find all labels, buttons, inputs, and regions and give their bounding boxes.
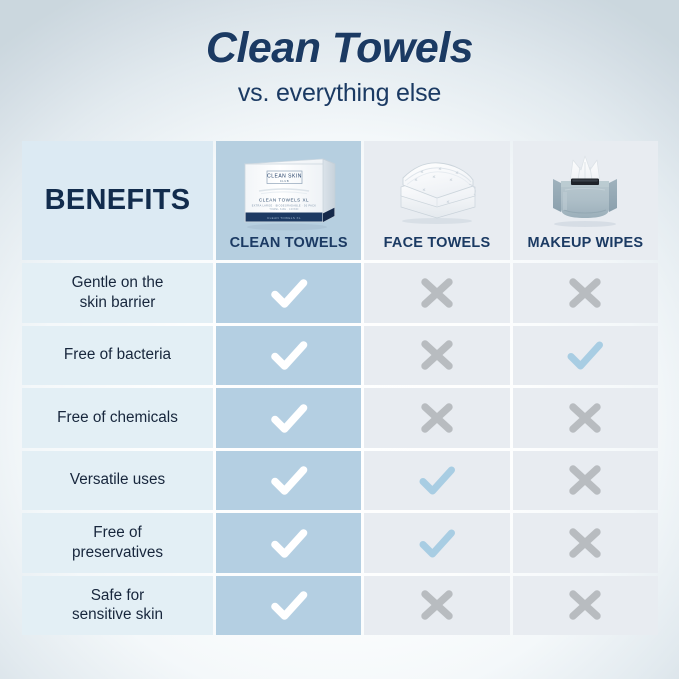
- benefit-label: Versatile uses: [62, 470, 173, 490]
- table-row: Gentle on theskin barrier: [22, 263, 658, 323]
- mark-cell-clean-towels: [216, 513, 361, 573]
- mark-cell-clean-towels: [216, 388, 361, 448]
- column-label-clean-towels: CLEAN TOWELS: [230, 235, 348, 260]
- cross-grey-icon: [563, 458, 607, 502]
- cross-grey-icon: [563, 396, 607, 440]
- product-image-face-towels: [364, 141, 509, 235]
- check-white-icon: [267, 458, 311, 502]
- check-white-icon: [267, 396, 311, 440]
- check-white-icon: [267, 271, 311, 315]
- page-subtitle: vs. everything else: [0, 78, 679, 108]
- table-row: Versatile uses: [22, 451, 658, 511]
- mark-cell-makeup-wipes: [513, 263, 658, 323]
- svg-text:CLUB: CLUB: [279, 179, 288, 183]
- mark-cell-face-towels: [364, 326, 509, 386]
- mark-cell-makeup-wipes: [513, 513, 658, 573]
- cross-grey-icon: [415, 333, 459, 377]
- comparison-table: BENEFITS: [22, 141, 658, 635]
- benefits-header-label: BENEFITS: [45, 184, 191, 217]
- mark-cell-face-towels: [364, 451, 509, 511]
- svg-text:CLEAN TOWELS XL: CLEAN TOWELS XL: [259, 197, 309, 202]
- cross-grey-icon: [415, 271, 459, 315]
- mark-cell-makeup-wipes: [513, 326, 658, 386]
- benefit-cell: Free of bacteria: [22, 326, 213, 386]
- check-blue-icon: [415, 458, 459, 502]
- benefit-cell: Gentle on theskin barrier: [22, 263, 213, 323]
- wipes-pouch-icon: [537, 148, 633, 232]
- benefit-cell: Safe forsensitive skin: [22, 576, 213, 636]
- benefit-cell: Free ofpreservatives: [22, 513, 213, 573]
- mark-cell-clean-towels: [216, 263, 361, 323]
- table-row: Free of bacteria: [22, 326, 658, 386]
- column-header-face-towels[interactable]: FACE TOWELS: [364, 141, 509, 260]
- svg-text:TOWEL SIZE · 10X8IN: TOWEL SIZE · 10X8IN: [269, 209, 298, 211]
- column-label-face-towels: FACE TOWELS: [384, 235, 491, 260]
- mark-cell-makeup-wipes: [513, 451, 658, 511]
- table-row: Free ofpreservatives: [22, 513, 658, 573]
- column-label-makeup-wipes: MAKEUP WIPES: [527, 235, 643, 260]
- column-header-clean-towels[interactable]: CLEAN TOWELS XL CLEAN SKIN CLUB CLEAN TO…: [216, 141, 361, 260]
- mark-cell-clean-towels: [216, 576, 361, 636]
- benefit-label: Free of bacteria: [56, 345, 179, 365]
- mark-cell-makeup-wipes: [513, 576, 658, 636]
- check-white-icon: [267, 583, 311, 627]
- svg-text:CLEAN TOWELS XL: CLEAN TOWELS XL: [267, 216, 301, 220]
- cross-grey-icon: [563, 583, 607, 627]
- mark-cell-face-towels: [364, 388, 509, 448]
- cross-grey-icon: [415, 396, 459, 440]
- table-row: Safe forsensitive skin: [22, 576, 658, 636]
- mark-cell-face-towels: [364, 513, 509, 573]
- column-header-makeup-wipes[interactable]: MAKEUP WIPES: [513, 141, 658, 260]
- title-block: Clean Towels vs. everything else: [0, 26, 679, 108]
- mark-cell-face-towels: [364, 263, 509, 323]
- svg-text:CLEAN SKIN: CLEAN SKIN: [267, 174, 302, 180]
- page-title: Clean Towels: [0, 26, 679, 71]
- check-blue-icon: [563, 333, 607, 377]
- benefit-cell: Versatile uses: [22, 451, 213, 511]
- cross-grey-icon: [563, 521, 607, 565]
- folded-towels-icon: [387, 151, 487, 229]
- benefit-cell: Free of chemicals: [22, 388, 213, 448]
- cross-grey-icon: [415, 583, 459, 627]
- cross-grey-icon: [563, 271, 607, 315]
- table-row: Free of chemicals: [22, 388, 658, 448]
- product-image-makeup-wipes: [513, 141, 658, 235]
- mark-cell-face-towels: [364, 576, 509, 636]
- mark-cell-makeup-wipes: [513, 388, 658, 448]
- mark-cell-clean-towels: [216, 326, 361, 386]
- product-box-clean-towels-icon: CLEAN TOWELS XL CLEAN SKIN CLUB CLEAN TO…: [237, 148, 341, 232]
- svg-text:EXTRA LARGE · BIODEGRADABLE: EXTRA LARGE · BIODEGRADABLE · 50 PACK: [251, 204, 315, 207]
- benefit-label: Free of chemicals: [49, 408, 186, 428]
- check-white-icon: [267, 521, 311, 565]
- benefit-label: Free ofpreservatives: [64, 523, 171, 562]
- table-header-row: BENEFITS: [22, 141, 658, 260]
- product-image-clean-towels: CLEAN TOWELS XL CLEAN SKIN CLUB CLEAN TO…: [216, 141, 361, 235]
- mark-cell-clean-towels: [216, 451, 361, 511]
- check-blue-icon: [415, 521, 459, 565]
- benefit-label: Safe forsensitive skin: [64, 586, 171, 625]
- comparison-infographic: Clean Towels vs. everything else BENEFIT…: [0, 0, 679, 679]
- benefits-header-cell: BENEFITS: [22, 141, 213, 260]
- check-white-icon: [267, 333, 311, 377]
- benefit-label: Gentle on theskin barrier: [64, 273, 172, 312]
